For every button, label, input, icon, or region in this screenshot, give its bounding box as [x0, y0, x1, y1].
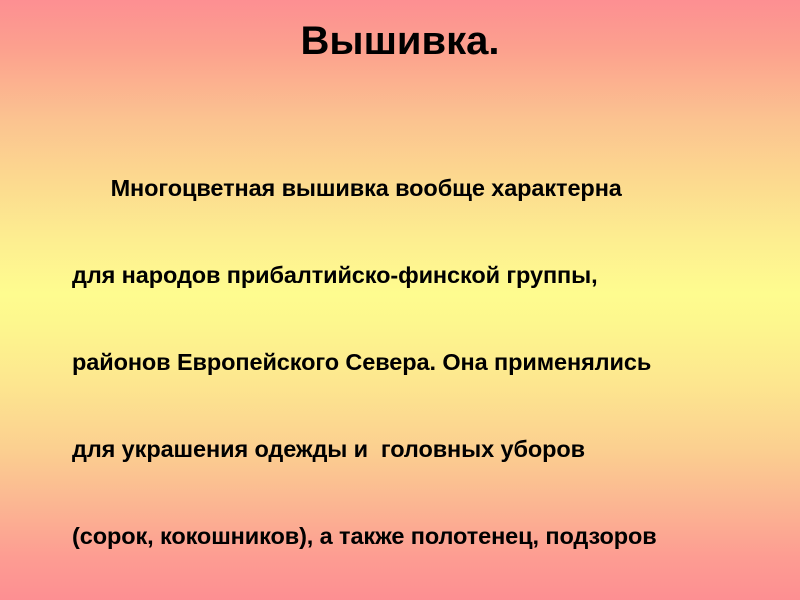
body-line: (сорок, кокошников), а также полотенец, … — [72, 522, 752, 551]
body-line: для народов прибалтийско-финской группы, — [72, 261, 752, 290]
page-title: Вышивка. — [0, 18, 800, 64]
body-text-block: Многоцветная вышивка вообще характерна д… — [72, 116, 752, 600]
body-line: районов Европейского Севера. Она применя… — [72, 348, 752, 377]
body-line: Многоцветная вышивка вообще характерна — [72, 174, 752, 203]
presentation-slide: Вышивка. Многоцветная вышивка вообще хар… — [0, 0, 800, 600]
body-line: для украшения одежды и головных уборов — [72, 435, 752, 464]
